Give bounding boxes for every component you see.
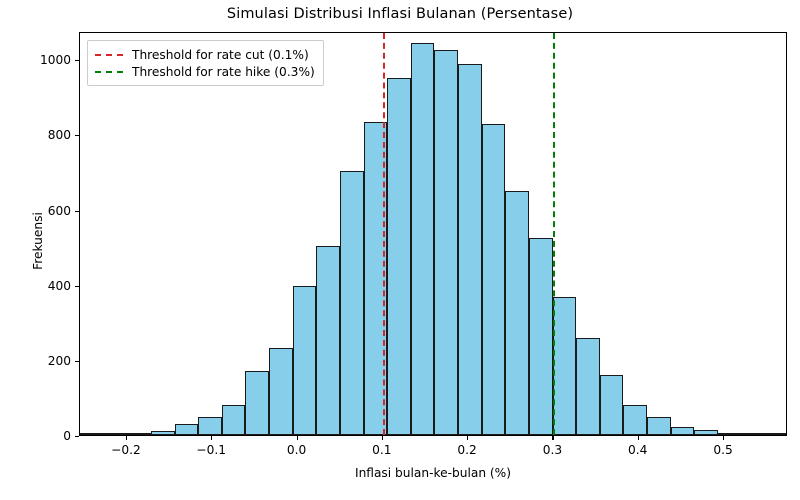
x-tick-label: 0.0 [287, 443, 306, 457]
x-tick-mark [211, 436, 212, 440]
x-tick-label: 0.2 [457, 443, 476, 457]
x-tick-mark [382, 436, 383, 440]
histogram-bar [600, 375, 624, 435]
y-tick-mark [75, 436, 79, 437]
y-axis-label: Frekuensi [31, 141, 45, 341]
y-tick-mark [75, 135, 79, 136]
histogram-bar [765, 433, 787, 435]
threshold-rate-cut-line [383, 33, 385, 435]
x-tick-label: 0.4 [628, 443, 647, 457]
y-tick-mark [75, 286, 79, 287]
legend-label: Threshold for rate cut (0.1%) [132, 48, 309, 62]
histogram-bar [151, 431, 175, 436]
histogram-bar [293, 286, 317, 435]
x-tick-label: −0.2 [111, 443, 141, 457]
histogram-bar [198, 417, 222, 435]
chart-figure: Simulasi Distribusi Inflasi Bulanan (Per… [0, 0, 800, 500]
chart-title: Simulasi Distribusi Inflasi Bulanan (Per… [0, 6, 800, 22]
threshold-rate-hike-line [553, 33, 555, 435]
y-tick-label: 800 [48, 128, 71, 142]
histogram-bar [387, 78, 411, 435]
histogram-bar [671, 427, 695, 435]
x-tick-mark [297, 436, 298, 440]
histogram-bar [505, 191, 529, 435]
histogram-bar [482, 124, 506, 435]
histogram-bar [529, 238, 553, 435]
x-tick-mark [723, 436, 724, 440]
y-tick-mark [75, 361, 79, 362]
histogram-bar [576, 338, 600, 435]
histogram-bar [269, 348, 293, 435]
legend-item: Threshold for rate cut (0.1%) [95, 46, 315, 63]
histogram-bar [411, 43, 435, 435]
histogram-bar [80, 433, 104, 435]
y-tick-label: 200 [48, 354, 71, 368]
x-axis-label: Inflasi bulan-ke-bulan (%) [79, 466, 787, 480]
histogram-bar [434, 50, 458, 435]
histogram-bar [222, 405, 246, 435]
legend-line-icon [95, 71, 123, 73]
legend-line-icon [95, 54, 123, 56]
histogram-bar [458, 64, 482, 435]
y-tick-mark [75, 60, 79, 61]
legend-item: Threshold for rate hike (0.3%) [95, 63, 315, 80]
x-tick-label: 0.3 [543, 443, 562, 457]
histogram-bar [623, 405, 647, 435]
histogram-bar [245, 371, 269, 435]
histogram-bar [340, 171, 364, 435]
histogram-bar [127, 433, 151, 435]
y-tick-label: 0 [63, 429, 71, 443]
x-tick-mark [552, 436, 553, 440]
legend-label: Threshold for rate hike (0.3%) [132, 65, 315, 79]
x-tick-mark [126, 436, 127, 440]
histogram-bar [694, 430, 718, 435]
histogram-bar [718, 433, 742, 435]
x-tick-mark [467, 436, 468, 440]
histogram-bar [175, 424, 199, 435]
y-tick-label: 600 [48, 204, 71, 218]
histogram-bar [316, 246, 340, 435]
histogram-bar [104, 433, 128, 435]
histogram-bar [553, 297, 577, 435]
chart-legend: Threshold for rate cut (0.1%)Threshold f… [87, 40, 324, 86]
x-tick-label: 0.5 [713, 443, 732, 457]
plot-area [79, 32, 787, 436]
x-tick-mark [638, 436, 639, 440]
x-tick-label: −0.1 [196, 443, 226, 457]
y-tick-label: 1000 [40, 53, 71, 67]
histogram-bar [647, 417, 671, 435]
y-tick-label: 400 [48, 279, 71, 293]
y-tick-mark [75, 211, 79, 212]
histogram-bar [742, 433, 766, 435]
x-tick-label: 0.1 [372, 443, 391, 457]
